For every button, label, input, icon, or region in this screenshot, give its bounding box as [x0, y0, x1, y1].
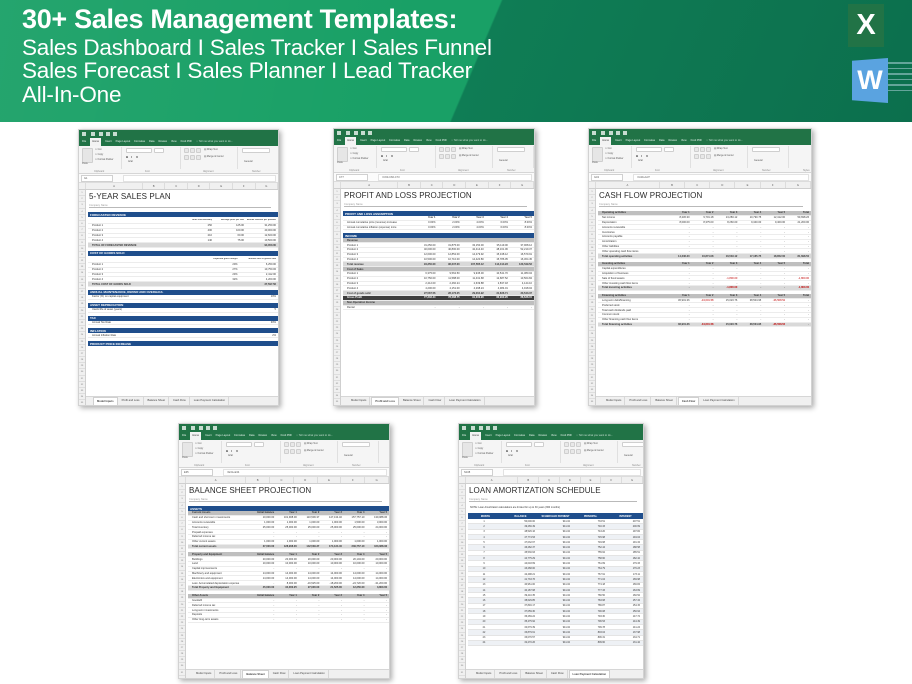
cell-value: 101,908.00: [276, 516, 299, 519]
qat-button[interactable]: [91, 132, 95, 136]
font-u-button[interactable]: U: [236, 449, 238, 453]
align-button[interactable]: [439, 154, 444, 159]
row-header-32[interactable]: 32: [459, 676, 465, 679]
font-i-button[interactable]: I: [641, 154, 642, 158]
qat-button[interactable]: [354, 131, 358, 135]
company-name-field[interactable]: Company Name: [469, 498, 637, 502]
align-button[interactable]: [576, 442, 581, 447]
ribbon-tab-foxit-pdf[interactable]: Foxit PDF: [691, 137, 703, 145]
font-i-button[interactable]: I: [231, 449, 232, 453]
ribbon-tab-foxit-pdf[interactable]: Foxit PDF: [561, 432, 573, 440]
ribbon-tab-file[interactable]: File: [82, 138, 86, 146]
column-header-D[interactable]: D: [188, 183, 211, 189]
ribbon-tab-view[interactable]: View: [171, 138, 177, 146]
ribbon-tab-formulas[interactable]: Formulas: [644, 137, 655, 145]
ribbon-tab-view[interactable]: View: [271, 432, 277, 440]
align-button[interactable]: [564, 449, 569, 454]
cell-value: 60.00: [214, 234, 246, 237]
ribbon-tab-formulas[interactable]: Formulas: [514, 432, 525, 440]
align-button[interactable]: [284, 442, 289, 447]
row-gap: [598, 327, 811, 330]
sheet-tab-profit-and-loss[interactable]: Profit and Loss: [496, 670, 521, 678]
align-button[interactable]: [196, 155, 201, 160]
column-header-B[interactable]: B: [518, 477, 539, 483]
cell-value: -: [763, 309, 787, 312]
clipboard-item-format-painter[interactable]: ✂ Format Painter: [350, 157, 368, 160]
ribbon-tab-view[interactable]: View: [551, 432, 557, 440]
loan-cell-month: 2: [468, 525, 503, 528]
sheet-tab-profit-and-loss[interactable]: Profit and Loss: [371, 397, 399, 406]
ribbon-tab-foxit-pdf[interactable]: Foxit PDF: [281, 432, 293, 440]
ribbon-tab-file[interactable]: File: [337, 137, 341, 145]
ribbon-tab-insert[interactable]: Insert: [360, 137, 367, 145]
align-wrap-text[interactable]: ▤ Wrap Text: [714, 147, 728, 150]
ribbon-group-label: Clipboard: [474, 464, 484, 467]
ribbon-tab-data[interactable]: Data: [149, 138, 154, 146]
cell-value: 14,420.80: [462, 258, 486, 261]
company-name-field[interactable]: Company Name: [599, 203, 803, 207]
ribbon-tab-formulas[interactable]: Formulas: [389, 137, 400, 145]
column-header-F[interactable]: F: [233, 183, 256, 189]
qat-button[interactable]: [479, 426, 483, 430]
ribbon-tab-file[interactable]: File: [462, 432, 466, 440]
column-header-C[interactable]: C: [270, 477, 294, 483]
column-header-B[interactable]: B: [246, 477, 270, 483]
font-name-box[interactable]: Arial: [506, 442, 532, 447]
tell-me-box[interactable]: ♀ Tell me what you want to do...: [296, 432, 333, 440]
ribbon-tab-page-layout[interactable]: Page Layout: [496, 432, 511, 440]
number-format-box[interactable]: General: [242, 148, 270, 153]
tell-me-box[interactable]: ♀ Tell me what you want to do...: [451, 137, 488, 145]
ribbon-tab-foxit-pdf[interactable]: Foxit PDF: [181, 138, 193, 146]
clipboard-item-cut[interactable]: ✂ Cut: [95, 148, 101, 151]
qat-button[interactable]: [623, 131, 627, 135]
ribbon-tab-data[interactable]: Data: [659, 137, 664, 145]
sheet-tab-balance-sheet[interactable]: Balance Sheet: [400, 397, 424, 405]
ribbon-group-label: Clipboard: [604, 169, 614, 172]
qat-button[interactable]: [199, 426, 203, 430]
font-u-button[interactable]: U: [391, 154, 393, 158]
align-button[interactable]: [706, 147, 711, 152]
ribbon-tab-insert[interactable]: Insert: [615, 137, 622, 145]
qat-button[interactable]: [337, 131, 341, 135]
clipboard-item-copy[interactable]: ✂ Copy: [605, 152, 613, 155]
sheet-tab-model-inputs[interactable]: Model Inputs: [348, 397, 370, 405]
tell-me-box[interactable]: ♀ Tell me what you want to do...: [196, 138, 233, 146]
column-header-E[interactable]: E: [466, 182, 489, 188]
cell-value: -: [413, 306, 437, 309]
column-header-B[interactable]: B: [398, 182, 421, 188]
qat-button[interactable]: [616, 131, 620, 135]
column-header-A[interactable]: A: [186, 477, 246, 483]
loan-cell-principal: 796.53: [573, 620, 608, 623]
tell-me-box[interactable]: ♀ Tell me what you want to do...: [706, 137, 743, 145]
loan-cell-balance: 44,018.69: [503, 562, 538, 565]
worksheet-grid[interactable]: 1234567891011121314151617181920212223242…: [79, 190, 278, 406]
ribbon-tab-view[interactable]: View: [681, 137, 687, 145]
ribbon-tab-review[interactable]: Review: [258, 432, 267, 440]
font-u-button[interactable]: U: [516, 449, 518, 453]
number-format-box[interactable]: General: [752, 147, 780, 152]
ribbon-tab-foxit-pdf[interactable]: Foxit PDF: [436, 137, 448, 145]
formula-input[interactable]: [123, 175, 276, 182]
align-button[interactable]: [184, 148, 189, 153]
align-button[interactable]: [190, 155, 195, 160]
clipboard-item-cut[interactable]: ✂ Cut: [195, 442, 201, 445]
row-header-32[interactable]: 32: [179, 676, 185, 679]
ribbon-tab-insert[interactable]: Insert: [105, 138, 112, 146]
font-name-box[interactable]: Arial: [126, 148, 152, 153]
ribbon-tab-home[interactable]: Home: [345, 137, 356, 145]
ribbon-tab-review[interactable]: Review: [413, 137, 422, 145]
cell-value: -: [692, 272, 716, 275]
row-label: Other liabilities: [598, 245, 668, 248]
column-header-C[interactable]: C: [685, 182, 710, 188]
sheet-tab-balance-sheet[interactable]: Balance Sheet: [242, 670, 268, 679]
align-button[interactable]: [190, 148, 195, 153]
paste-button[interactable]: [337, 147, 348, 162]
column-header-G[interactable]: G: [365, 477, 389, 483]
worksheet-grid[interactable]: 1234567891011121314151617181920212223242…: [179, 484, 389, 679]
align-wrap-text[interactable]: ▤ Wrap Text: [584, 442, 598, 445]
font-name-box[interactable]: Arial: [226, 442, 252, 447]
screenshot-balance-sheet-projection[interactable]: FileHomeInsertPage LayoutFormulasDataRev…: [178, 423, 390, 679]
font-b-button[interactable]: B: [636, 154, 638, 158]
align-button[interactable]: [439, 147, 444, 152]
font-u-button[interactable]: U: [646, 154, 648, 158]
qat-button[interactable]: [609, 131, 613, 135]
screenshot-profit-and-loss-projection[interactable]: FileHomeInsertPage LayoutFormulasDataRev…: [333, 128, 535, 406]
align-merge-center[interactable]: ▤ Merge & Center: [204, 155, 224, 158]
clipboard-item-cut[interactable]: ✂ Cut: [475, 442, 481, 445]
align-button[interactable]: [706, 154, 711, 159]
column-header-B[interactable]: B: [660, 182, 685, 188]
name-box[interactable]: G43: [591, 174, 623, 181]
cell-value: -: [739, 267, 763, 270]
qat-button[interactable]: [368, 131, 372, 135]
align-merge-center[interactable]: ▤ Merge & Center: [714, 154, 734, 157]
align-button[interactable]: [290, 442, 295, 447]
font-b-button[interactable]: B: [126, 155, 128, 159]
column-header-D[interactable]: D: [560, 477, 581, 483]
sheet-tab-loan-payment-calculation[interactable]: Loan Payment Calculation: [569, 670, 611, 679]
align-wrap-text[interactable]: ▤ Wrap Text: [204, 148, 218, 151]
column-header-F[interactable]: F: [761, 182, 786, 188]
align-button[interactable]: [700, 154, 705, 159]
font-i-button[interactable]: I: [511, 449, 512, 453]
qat-button[interactable]: [99, 132, 103, 136]
ribbon-tab-page-layout[interactable]: Page Layout: [116, 138, 131, 146]
qat-button[interactable]: [191, 426, 195, 430]
sheet-tab-cash-flow[interactable]: Cash Flow: [270, 670, 290, 678]
qat-button[interactable]: [493, 426, 497, 430]
cell-value: -: [787, 267, 811, 270]
screenshot-cash-flow-projection[interactable]: FileHomeInsertPage LayoutFormulasDataRev…: [588, 128, 812, 406]
cell-value: 14,479.92: [462, 253, 486, 256]
font-b-button[interactable]: B: [506, 449, 508, 453]
formula-input[interactable]: =G39+G37: [633, 174, 809, 181]
ribbon-tab-review[interactable]: Review: [158, 138, 167, 146]
formula-input[interactable]: =E31+E34: [223, 469, 387, 476]
ribbon-tab-file[interactable]: File: [182, 432, 186, 440]
formula-input[interactable]: =C63-C66-C73: [378, 174, 532, 181]
qat-button[interactable]: [346, 131, 350, 135]
worksheet-grid[interactable]: 1234567891011121314151617181920212223242…: [334, 189, 534, 406]
ribbon-tab-page-layout[interactable]: Page Layout: [216, 432, 231, 440]
clipboard-item-format-painter[interactable]: ✂ Format Painter: [95, 158, 113, 161]
column-header-D[interactable]: D: [294, 477, 318, 483]
font-u-button[interactable]: U: [136, 155, 138, 159]
ribbon-tab-page-layout[interactable]: Page Layout: [626, 137, 641, 145]
cell-value: -: [344, 618, 367, 621]
align-button[interactable]: [570, 442, 575, 447]
sheet-tab-cash-flow[interactable]: Cash Flow: [548, 670, 568, 678]
align-merge-center[interactable]: ▤ Merge & Center: [584, 449, 604, 452]
screenshot-loan-amortization-schedule[interactable]: FileHomeInsertPage LayoutFormulasDataRev…: [458, 423, 644, 679]
cell-value: -: [668, 313, 692, 316]
qat-button[interactable]: [462, 426, 466, 430]
align-button[interactable]: [290, 449, 295, 454]
ribbon-tab-data[interactable]: Data: [404, 137, 409, 145]
align-button[interactable]: [694, 154, 699, 159]
select-all-corner[interactable]: [179, 477, 186, 483]
ribbon-tab-data[interactable]: Data: [249, 432, 254, 440]
row-label: Product 1: [343, 272, 413, 275]
sheet-tab-loan-payment-calculation[interactable]: Loan Payment Calculation: [446, 397, 484, 405]
align-button[interactable]: [184, 155, 189, 160]
select-all-corner[interactable]: [334, 182, 341, 188]
name-box[interactable]: N108: [461, 469, 493, 476]
font-b-button[interactable]: B: [226, 449, 228, 453]
cell-value: -: [254, 535, 277, 538]
clipboard-item-cut[interactable]: ✂ Cut: [350, 147, 356, 150]
align-button[interactable]: [451, 154, 456, 159]
qat-button[interactable]: [82, 132, 86, 136]
clipboard-item-copy[interactable]: ✂ Copy: [195, 447, 203, 450]
align-button[interactable]: [296, 442, 301, 447]
worksheet-grid[interactable]: 1234567891011121314151617181920212223242…: [459, 484, 643, 679]
qat-button[interactable]: [106, 132, 110, 136]
ribbon-tab-insert[interactable]: Insert: [205, 432, 212, 440]
cell-value: -: [715, 226, 739, 229]
qat-button[interactable]: [486, 426, 490, 430]
paste-button[interactable]: [592, 147, 603, 162]
formula-input[interactable]: [503, 469, 641, 476]
column-header-A[interactable]: A: [596, 182, 660, 188]
name-box[interactable]: G1: [81, 175, 113, 182]
font-b-button[interactable]: B: [381, 154, 383, 158]
tell-me-box[interactable]: ♀ Tell me what you want to do...: [576, 432, 613, 440]
column-header-F[interactable]: F: [601, 477, 622, 483]
align-button[interactable]: [296, 449, 301, 454]
align-button[interactable]: [570, 449, 575, 454]
loan-table-row: 2432,270.26941.02809.60131.42: [468, 641, 643, 646]
select-all-corner[interactable]: [589, 182, 596, 188]
font-i-button[interactable]: I: [386, 154, 387, 158]
sheet-tab-model-inputs[interactable]: Model Inputs: [93, 397, 118, 406]
loan-cell-interest: 191.34: [608, 541, 643, 544]
select-all-corner[interactable]: [459, 477, 466, 483]
cell-value: 114,414.23: [486, 263, 510, 266]
ribbon-tab-home[interactable]: Home: [90, 138, 101, 146]
ribbon-tab-file[interactable]: File: [592, 137, 596, 145]
qat-button[interactable]: [182, 426, 186, 430]
column-header-C[interactable]: C: [165, 183, 188, 189]
column-header-A[interactable]: A: [341, 182, 398, 188]
font-size-box[interactable]: [154, 148, 164, 153]
cell-value: 1,000.00: [321, 540, 344, 543]
column-header-G[interactable]: G: [256, 183, 279, 189]
clipboard-item-format-painter[interactable]: ✂ Format Painter: [605, 157, 623, 160]
column-header-E[interactable]: E: [210, 183, 233, 189]
sheet-tab-model-inputs[interactable]: Model Inputs: [603, 397, 625, 405]
clipboard-item-copy[interactable]: ✂ Copy: [95, 153, 103, 156]
align-button[interactable]: [564, 442, 569, 447]
loan-cell-month: 8: [468, 557, 503, 560]
ribbon-group-label: Number: [352, 464, 361, 467]
column-header-B[interactable]: B: [143, 183, 166, 189]
quick-access-toolbar: [179, 424, 389, 432]
sheet-tab-balance-sheet[interactable]: Balance Sheet: [652, 397, 676, 405]
select-all-corner[interactable]: [79, 183, 86, 189]
align-button[interactable]: [445, 147, 450, 152]
name-box[interactable]: C77: [336, 174, 368, 181]
row-header-35[interactable]: 35: [79, 400, 85, 406]
cell-value: -: [668, 282, 692, 285]
ribbon-tab-review[interactable]: Review: [538, 432, 547, 440]
column-header-F[interactable]: F: [341, 477, 365, 483]
align-wrap-text[interactable]: ▤ Wrap Text: [304, 442, 318, 445]
ribbon-tab-page-layout[interactable]: Page Layout: [371, 137, 386, 145]
ribbon-tab-data[interactable]: Data: [529, 432, 534, 440]
sheet-tab-model-inputs[interactable]: Model Inputs: [473, 670, 495, 678]
cell-value: 14,236.30: [668, 255, 692, 258]
font-size-box[interactable]: [534, 442, 544, 447]
align-merge-center[interactable]: ▤ Merge & Center: [459, 154, 479, 157]
name-box[interactable]: E35: [181, 469, 213, 476]
column-header-D[interactable]: D: [443, 182, 466, 188]
font-size-box[interactable]: [409, 147, 419, 152]
ribbon-tab-view[interactable]: View: [426, 137, 432, 145]
sheet-tab-loan-payment-calculation[interactable]: Loan Payment Calculation: [290, 670, 328, 678]
worksheet-grid[interactable]: 1234567891011121314151617181920212223242…: [589, 189, 811, 406]
cell-value: 2,412.00: [413, 282, 437, 285]
qat-button[interactable]: [213, 426, 217, 430]
sheet-tab-loan-payment-calculation[interactable]: Loan Payment Calculation: [700, 397, 738, 405]
qat-button[interactable]: [592, 131, 596, 135]
amortization-note: NOTE: Loan Amortization calculations are…: [470, 506, 643, 509]
column-header-D[interactable]: D: [710, 182, 735, 188]
column-header-E[interactable]: E: [318, 477, 342, 483]
align-button[interactable]: [196, 148, 201, 153]
sheet-tab-cash-flow[interactable]: Cash Flow: [425, 397, 445, 405]
column-header-F[interactable]: F: [489, 182, 512, 188]
column-header-C[interactable]: C: [539, 477, 560, 483]
align-button[interactable]: [694, 147, 699, 152]
ribbon-tab-review[interactable]: Review: [668, 137, 677, 145]
font-size-box[interactable]: [254, 442, 264, 447]
company-name-field[interactable]: Company Name: [344, 203, 527, 207]
paste-button[interactable]: [182, 442, 193, 457]
year-header-cell: Year 2: [692, 262, 716, 265]
sheet-tab-model-inputs[interactable]: Model Inputs: [193, 670, 215, 678]
ribbon-tab-formulas[interactable]: Formulas: [234, 432, 245, 440]
column-header-C[interactable]: C: [421, 182, 444, 188]
sheet-tab-balance-sheet[interactable]: Balance Sheet: [522, 670, 546, 678]
qat-button[interactable]: [361, 131, 365, 135]
column-header-G[interactable]: G: [622, 477, 643, 483]
sheet-tab-loan-payment-calculation[interactable]: Loan Payment Calculation: [191, 397, 229, 405]
clipboard-item-copy[interactable]: ✂ Copy: [350, 152, 358, 155]
column-header-G[interactable]: G: [786, 182, 811, 188]
loan-column-header-interest: INTEREST: [608, 515, 643, 518]
column-header-E[interactable]: E: [581, 477, 602, 483]
qat-button[interactable]: [601, 131, 605, 135]
clipboard-item-format-painter[interactable]: ✂ Format Painter: [195, 452, 213, 455]
number-format-box[interactable]: General: [622, 442, 644, 447]
sheet-tab-profit-and-loss[interactable]: Profit and Loss: [626, 397, 651, 405]
column-header-G[interactable]: G: [511, 182, 534, 188]
ribbon-tab-formulas[interactable]: Formulas: [134, 138, 145, 146]
font-name-box[interactable]: Arial: [381, 147, 407, 152]
paste-button[interactable]: [462, 442, 473, 457]
font-i-button[interactable]: I: [131, 155, 132, 159]
loan-cell-principal: 786.87: [573, 604, 608, 607]
screenshot-five-year-sales-plan[interactable]: FileHomeInsertPage LayoutFormulasDataRev…: [78, 129, 279, 406]
align-merge-center[interactable]: ▤ Merge & Center: [304, 449, 324, 452]
number-format-box[interactable]: General: [497, 147, 525, 152]
paste-button[interactable]: [82, 148, 93, 163]
font-size-box[interactable]: [664, 147, 674, 152]
align-wrap-text[interactable]: ▤ Wrap Text: [459, 147, 473, 150]
clipboard-item-copy[interactable]: ✂ Copy: [475, 447, 483, 450]
align-button[interactable]: [576, 449, 581, 454]
company-name-field[interactable]: Company Name: [89, 204, 271, 208]
cell-value: -: [668, 286, 692, 289]
ribbon-tab-home[interactable]: Home: [600, 137, 611, 145]
ribbon-tab-insert[interactable]: Insert: [485, 432, 492, 440]
align-button[interactable]: [445, 154, 450, 159]
cell-value: 8.00%: [510, 226, 534, 229]
number-format-box[interactable]: General: [342, 442, 370, 447]
clipboard-item-format-painter[interactable]: ✂ Format Painter: [475, 452, 493, 455]
cell-value: 14,000.00: [276, 577, 299, 580]
qat-button[interactable]: [206, 426, 210, 430]
clipboard-item-cut[interactable]: ✂ Cut: [605, 147, 611, 150]
company-name-field[interactable]: Company Name: [189, 498, 382, 502]
column-header-E[interactable]: E: [735, 182, 760, 188]
qat-button[interactable]: [471, 426, 475, 430]
column-header-A[interactable]: A: [86, 183, 143, 189]
sheet-tab-balance-sheet[interactable]: Balance Sheet: [145, 397, 169, 405]
column-header-A[interactable]: A: [466, 477, 518, 483]
align-button[interactable]: [284, 449, 289, 454]
sheet-tab-cash-flow[interactable]: Cash Flow: [678, 397, 699, 406]
sheet-tab-profit-and-loss[interactable]: Profit and Loss: [216, 670, 241, 678]
font-name-box[interactable]: Arial: [636, 147, 662, 152]
qat-button[interactable]: [113, 132, 117, 136]
ribbon-tab-home[interactable]: Home: [190, 432, 201, 440]
align-button[interactable]: [700, 147, 705, 152]
align-button[interactable]: [451, 147, 456, 152]
year-header-cell: Year 3: [462, 216, 486, 219]
cell-value: -: [366, 567, 389, 570]
ribbon-tab-home[interactable]: Home: [470, 432, 481, 440]
sheet-tab-profit-and-loss[interactable]: Profit and Loss: [119, 397, 144, 405]
formula-bar: E35=E31+E34: [179, 468, 389, 477]
sheet-tab-cash-flow[interactable]: Cash Flow: [170, 397, 190, 405]
cell-value: 18,852.00: [763, 255, 787, 258]
